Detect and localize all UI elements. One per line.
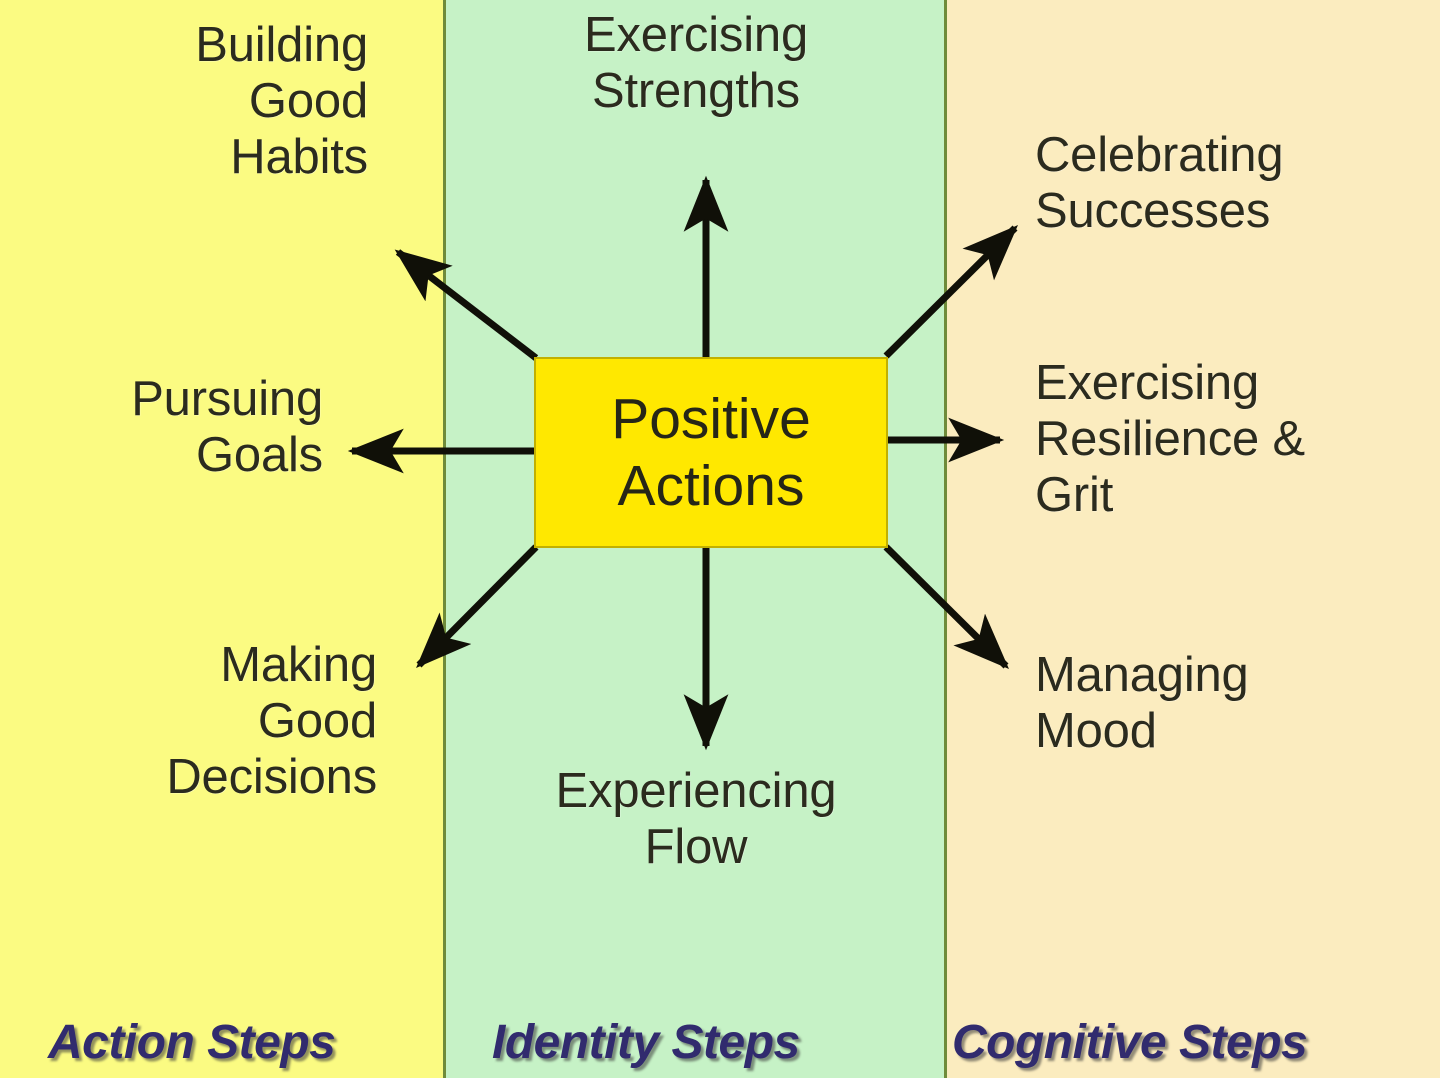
node-managing-mood: Managing Mood <box>1035 648 1430 760</box>
footer-label-action-steps: Action Steps <box>48 1015 335 1070</box>
node-experiencing-flow: Experiencing Flow <box>506 764 886 876</box>
node-celebrating-successes: Celebrating Successes <box>1035 128 1435 240</box>
node-pursuing-goals: Pursuing Goals <box>13 372 323 484</box>
node-making-good-decisions: Making Good Decisions <box>27 638 377 806</box>
node-exercising-resilience-and-grit: Exercising Resilience & Grit <box>1035 356 1430 524</box>
footer-label-cognitive-steps: Cognitive Steps <box>952 1015 1307 1070</box>
diagram-canvas: Positive Actions Building Good Habits Pu… <box>0 0 1440 1078</box>
center-node-positive-actions[interactable]: Positive Actions <box>534 357 888 548</box>
node-exercising-strengths: Exercising Strengths <box>506 8 886 120</box>
node-building-good-habits: Building Good Habits <box>38 18 368 186</box>
center-node-label: Positive Actions <box>611 386 811 518</box>
column-divider-right <box>944 0 947 1078</box>
column-divider-left <box>443 0 446 1078</box>
footer-label-identity-steps: Identity Steps <box>492 1015 800 1070</box>
